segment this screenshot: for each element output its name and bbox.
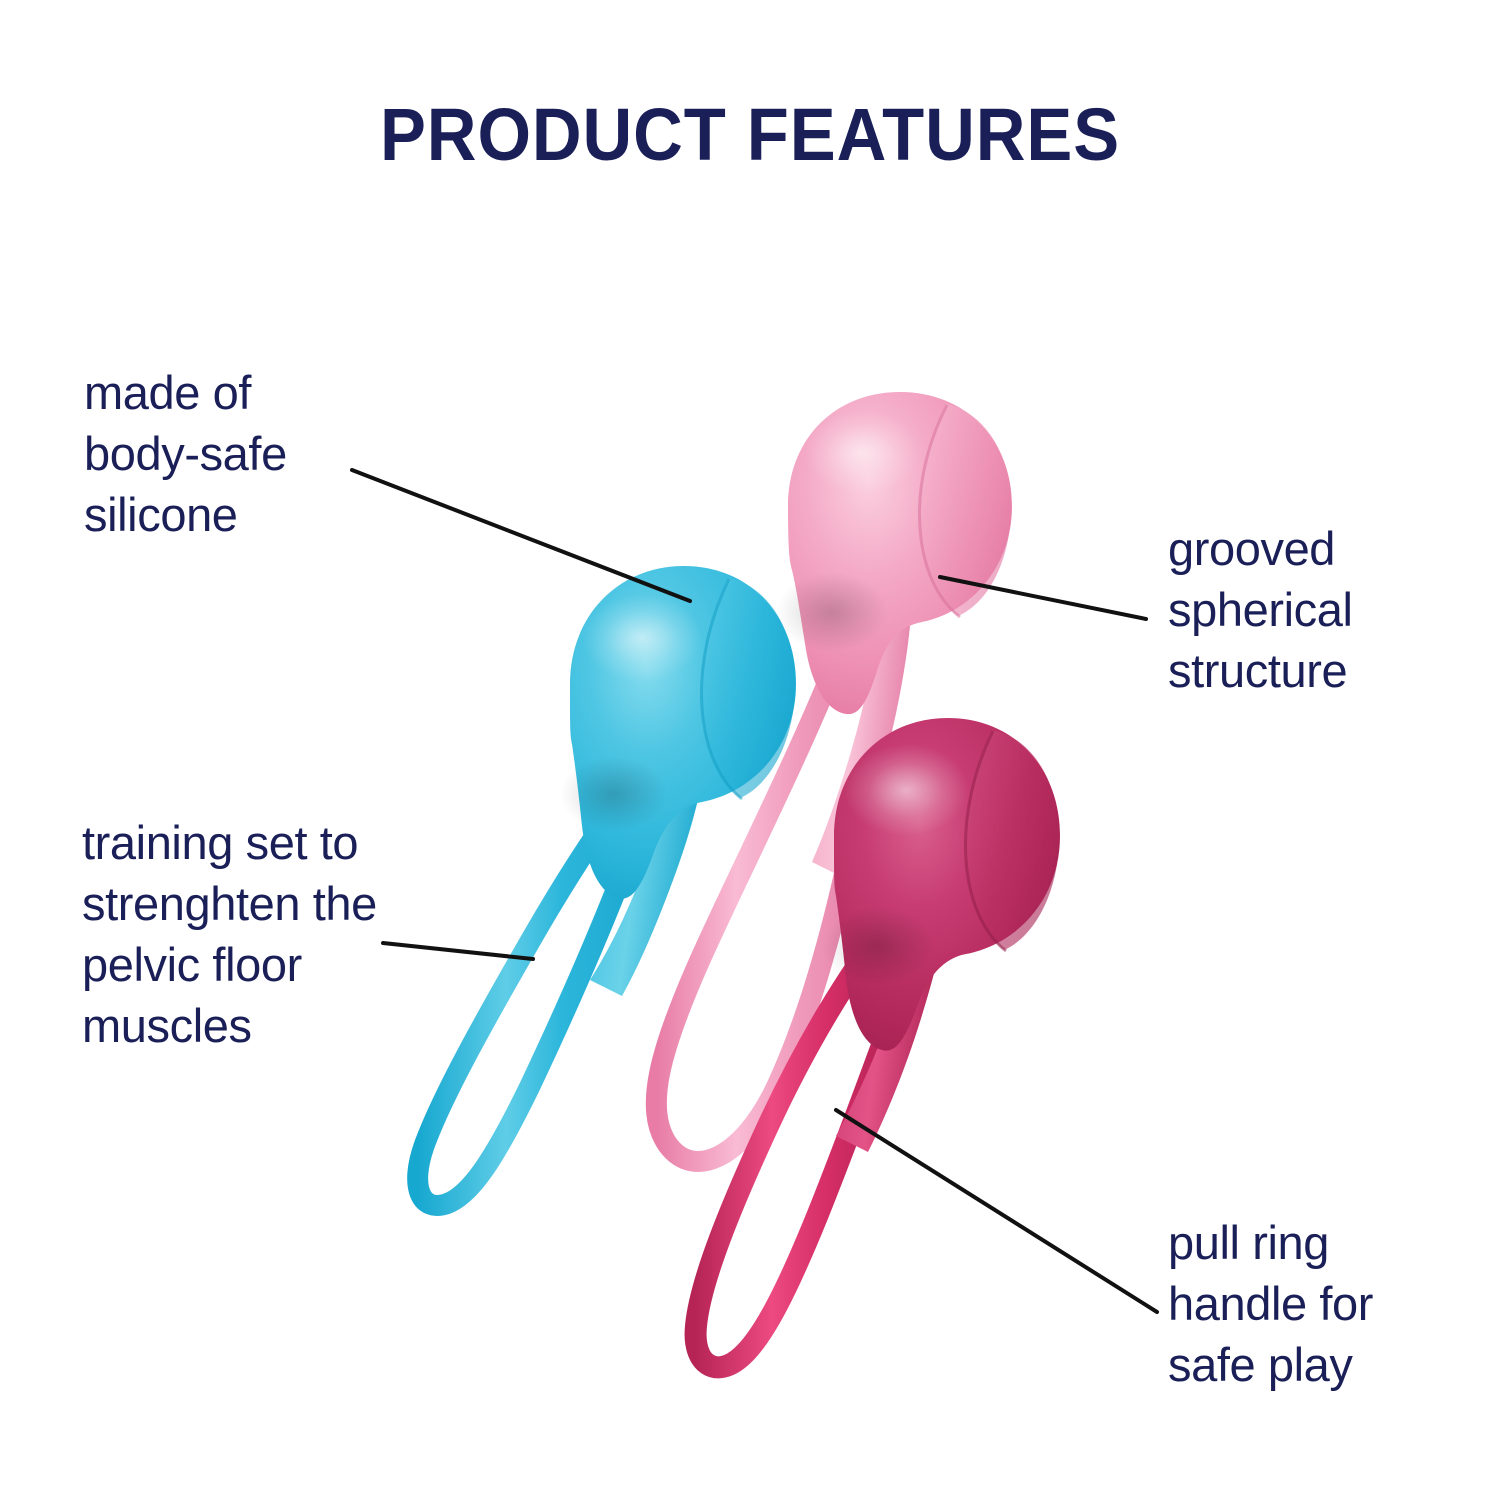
pink-ball-shade xyxy=(776,572,888,652)
callout-grooved-spherical-structure: grooved spherical structure xyxy=(1168,518,1353,701)
blue-ball-highlight xyxy=(582,594,702,682)
magenta-ball-shade xyxy=(822,906,934,986)
magenta-ball-highlight xyxy=(844,744,968,836)
leader-line-silicone xyxy=(352,470,690,601)
callout-made-of-body-safe-silicone: made of body-safe silicone xyxy=(84,362,287,545)
callout-training-set-pelvic-floor: training set to strenghten the pelvic fl… xyxy=(82,812,377,1056)
product-features-infographic: PRODUCT FEATURES xyxy=(0,0,1500,1500)
blue-ball-shade xyxy=(560,756,668,832)
pink-ball-highlight xyxy=(804,410,920,494)
magenta-kegel-ball xyxy=(696,718,1060,1367)
leader-line-training xyxy=(383,943,533,959)
callout-pull-ring-handle-safe-play: pull ring handle for safe play xyxy=(1168,1212,1373,1395)
leader-line-pullring xyxy=(836,1110,1157,1312)
